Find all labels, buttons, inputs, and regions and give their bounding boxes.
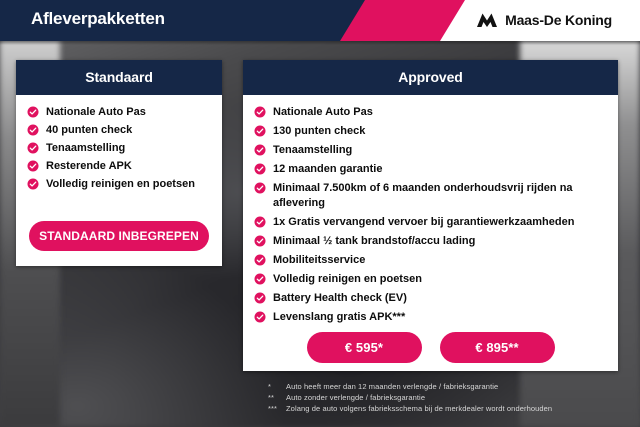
standaard-feature-list: Nationale Auto Pas 40 punten check Tenaa… <box>16 105 222 192</box>
list-item-label: Resterende APK <box>46 159 132 174</box>
check-circle-icon <box>27 106 39 118</box>
footnote-text: Zolang de auto volgens fabrieksschema bi… <box>286 403 552 414</box>
list-item: Tenaamstelling <box>254 143 608 158</box>
check-circle-icon <box>254 235 266 247</box>
check-circle-icon <box>254 144 266 156</box>
list-item-label: Minimaal 7.500km of 6 maanden onderhouds… <box>273 181 608 211</box>
check-circle-icon <box>254 125 266 137</box>
list-item: 40 punten check <box>27 123 212 138</box>
check-circle-icon <box>254 106 266 118</box>
maas-de-koning-logo-mark-icon <box>476 11 498 29</box>
check-circle-icon <box>27 178 39 190</box>
list-item: Minimaal ½ tank brandstof/accu lading <box>254 234 608 249</box>
card-approved-body: Nationale Auto Pas 130 punten check Tena… <box>243 95 618 325</box>
list-item: 12 maanden garantie <box>254 162 608 177</box>
list-item-label: Tenaamstelling <box>46 141 125 156</box>
footnote-marker: ** <box>268 392 286 403</box>
check-circle-icon <box>254 216 266 228</box>
list-item-label: Volledig reinigen en poetsen <box>273 272 422 287</box>
list-item: Tenaamstelling <box>27 141 212 156</box>
list-item-label: Tenaamstelling <box>273 143 352 158</box>
check-circle-icon <box>254 163 266 175</box>
approved-price-row: € 595* € 895** <box>243 332 618 363</box>
list-item-label: 12 maanden garantie <box>273 162 382 177</box>
card-standaard-title: Standaard <box>16 60 222 95</box>
list-item-label: Levenslang gratis APK*** <box>273 310 405 325</box>
list-item: Levenslang gratis APK*** <box>254 310 608 325</box>
card-approved: Approved Nationale Auto Pas 130 punten c… <box>243 60 618 371</box>
list-item-label: Mobiliteitsservice <box>273 253 365 268</box>
check-circle-icon <box>254 311 266 323</box>
list-item: 130 punten check <box>254 124 608 139</box>
list-item-label: Battery Health check (EV) <box>273 291 407 306</box>
standaard-inbegrepen-button[interactable]: STANDAARD INBEGREPEN <box>29 221 209 251</box>
list-item-label: 40 punten check <box>46 123 132 138</box>
list-item: Battery Health check (EV) <box>254 291 608 306</box>
list-item: Volledig reinigen en poetsen <box>254 272 608 287</box>
footnote-marker: *** <box>268 403 286 414</box>
check-circle-icon <box>27 142 39 154</box>
footnote-text: Auto heeft meer dan 12 maanden verlengde… <box>286 381 498 392</box>
price-button-595[interactable]: € 595* <box>307 332 422 363</box>
card-standaard-body: Nationale Auto Pas 40 punten check Tenaa… <box>16 95 222 192</box>
list-item: 1x Gratis vervangend vervoer bij garanti… <box>254 215 608 230</box>
footnote-item: *** Zolang de auto volgens fabrieksschem… <box>268 403 628 414</box>
list-item-label: 1x Gratis vervangend vervoer bij garanti… <box>273 215 574 230</box>
check-circle-icon <box>27 160 39 172</box>
check-circle-icon <box>254 273 266 285</box>
check-circle-icon <box>254 254 266 266</box>
card-standaard: Standaard Nationale Auto Pas 40 punten c… <box>16 60 222 266</box>
list-item-label: Nationale Auto Pas <box>273 105 373 120</box>
afleverpakketten-slide: Afleverpakketten Maas-De Koning Standaar… <box>0 0 640 427</box>
list-item-label: Minimaal ½ tank brandstof/accu lading <box>273 234 475 249</box>
header-shadow <box>0 41 640 45</box>
approved-feature-list: Nationale Auto Pas 130 punten check Tena… <box>243 105 618 325</box>
footnote-item: * Auto heeft meer dan 12 maanden verleng… <box>268 381 628 392</box>
list-item: Minimaal 7.500km of 6 maanden onderhouds… <box>254 181 608 211</box>
check-circle-icon <box>254 182 266 194</box>
page-header: Afleverpakketten Maas-De Koning <box>0 0 640 41</box>
check-circle-icon <box>27 124 39 136</box>
footnote-list: * Auto heeft meer dan 12 maanden verleng… <box>268 381 628 414</box>
list-item: Volledig reinigen en poetsen <box>27 177 212 192</box>
list-item-label: 130 punten check <box>273 124 365 139</box>
list-item: Nationale Auto Pas <box>254 105 608 120</box>
list-item-label: Volledig reinigen en poetsen <box>46 177 195 192</box>
footnote-marker: * <box>268 381 286 392</box>
footnote-item: ** Auto zonder verlengde / fabrieksgaran… <box>268 392 628 403</box>
list-item-label: Nationale Auto Pas <box>46 105 146 120</box>
page-title: Afleverpakketten <box>31 9 165 29</box>
price-button-895[interactable]: € 895** <box>440 332 555 363</box>
list-item: Resterende APK <box>27 159 212 174</box>
footnote-text: Auto zonder verlengde / fabrieksgarantie <box>286 392 425 403</box>
list-item: Nationale Auto Pas <box>27 105 212 120</box>
brand-name: Maas-De Koning <box>505 12 612 28</box>
brand-logo: Maas-De Koning <box>476 11 612 29</box>
check-circle-icon <box>254 292 266 304</box>
card-approved-title: Approved <box>243 60 618 95</box>
list-item: Mobiliteitsservice <box>254 253 608 268</box>
